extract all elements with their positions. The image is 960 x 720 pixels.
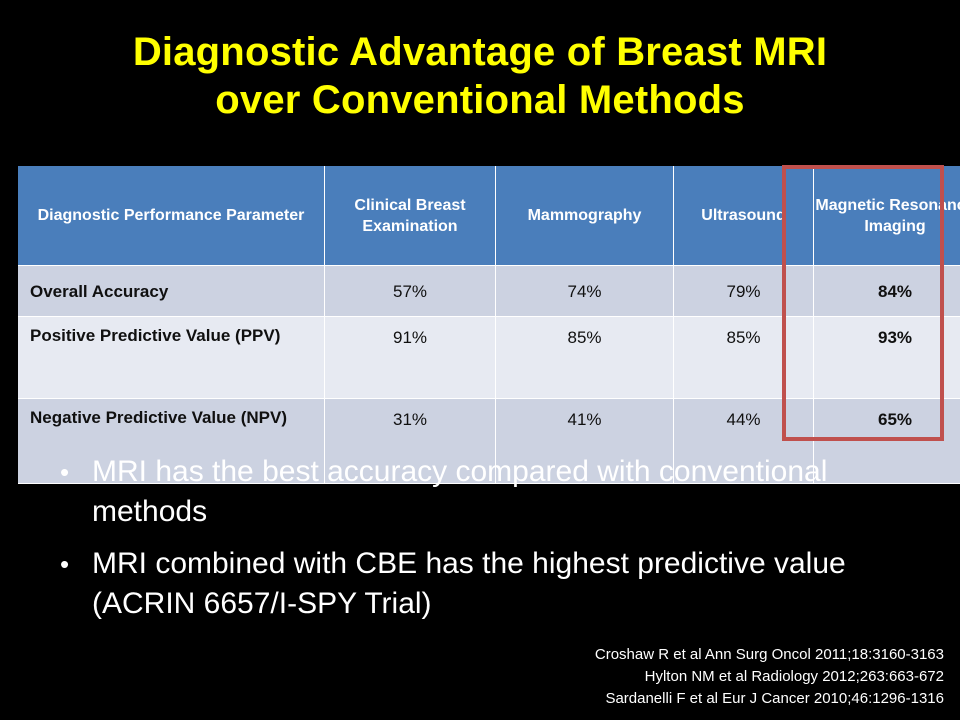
column-header-parameter: Diagnostic Performance Parameter: [18, 166, 325, 266]
row-label-overall-accuracy: Overall Accuracy: [18, 266, 325, 317]
diagnostic-performance-table: Diagnostic Performance Parameter Clinica…: [18, 166, 960, 484]
list-item: • MRI combined with CBE has the highest …: [56, 544, 886, 624]
citation-line: Sardanelli F et al Eur J Cancer 2010;46:…: [595, 688, 944, 710]
cell-ppv-mammography: 85%: [496, 317, 674, 399]
bullet-marker-icon: •: [56, 452, 92, 492]
cell-overall-accuracy-mri: 84%: [814, 266, 960, 317]
bullet-list: • MRI has the best accuracy compared wit…: [56, 452, 886, 636]
table-header: Diagnostic Performance Parameter Clinica…: [18, 166, 960, 266]
bullet-text: MRI has the best accuracy compared with …: [92, 452, 886, 532]
cell-ppv-cbe: 91%: [325, 317, 496, 399]
table-header-row: Diagnostic Performance Parameter Clinica…: [18, 166, 960, 266]
list-item: • MRI has the best accuracy compared wit…: [56, 452, 886, 532]
title-line-1: Diagnostic Advantage of Breast MRI: [0, 28, 960, 76]
column-header-magnetic-resonance-imaging: Magnetic Resonance Imaging: [814, 166, 960, 266]
bullet-text: MRI combined with CBE has the highest pr…: [92, 544, 886, 624]
bullet-marker-icon: •: [56, 544, 92, 584]
cell-overall-accuracy-ultrasound: 79%: [674, 266, 814, 317]
table-row: Positive Predictive Value (PPV) 91% 85% …: [18, 317, 960, 399]
cell-overall-accuracy-mammography: 74%: [496, 266, 674, 317]
performance-table-container: Diagnostic Performance Parameter Clinica…: [18, 166, 944, 484]
column-header-clinical-breast-examination: Clinical Breast Examination: [325, 166, 496, 266]
page-title: Diagnostic Advantage of Breast MRI over …: [0, 28, 960, 124]
table-body: Overall Accuracy 57% 74% 79% 84% Positiv…: [18, 266, 960, 484]
column-header-ultrasound: Ultrasound: [674, 166, 814, 266]
cell-ppv-mri: 93%: [814, 317, 960, 399]
row-label-positive-predictive-value: Positive Predictive Value (PPV): [18, 317, 325, 399]
citation-line: Hylton NM et al Radiology 2012;263:663-6…: [595, 666, 944, 688]
citation-line: Croshaw R et al Ann Surg Oncol 2011;18:3…: [595, 644, 944, 666]
slide-canvas: Diagnostic Advantage of Breast MRI over …: [0, 0, 960, 720]
column-header-mammography: Mammography: [496, 166, 674, 266]
citation-block: Croshaw R et al Ann Surg Oncol 2011;18:3…: [595, 644, 944, 710]
cell-overall-accuracy-cbe: 57%: [325, 266, 496, 317]
cell-ppv-ultrasound: 85%: [674, 317, 814, 399]
table-row: Overall Accuracy 57% 74% 79% 84%: [18, 266, 960, 317]
title-line-2: over Conventional Methods: [0, 76, 960, 124]
